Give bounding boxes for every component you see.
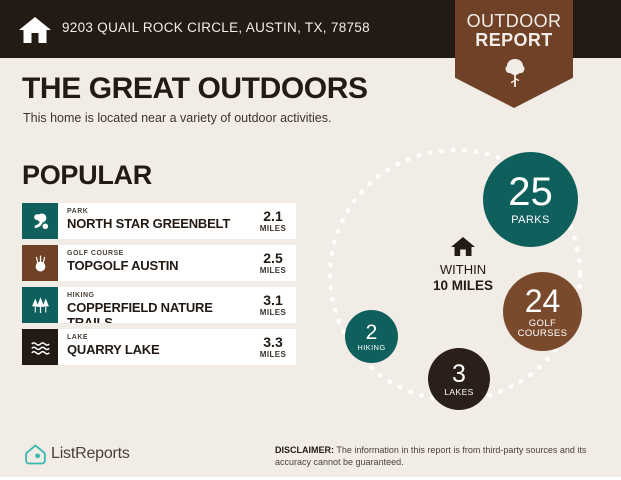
- home-icon: [450, 236, 476, 258]
- list-item[interactable]: LAKE QUARRY LAKE 3.3 MILES: [22, 329, 296, 365]
- list-item-category: GOLF COURSE: [67, 249, 250, 258]
- outdoor-report-badge: OUTDOOR REPORT: [455, 0, 573, 108]
- list-item-category: LAKE: [67, 333, 250, 342]
- list-item[interactable]: PARK NORTH STAR GREENBELT 2.1 MILES: [22, 203, 296, 239]
- disclaimer-label: DISCLAIMER:: [275, 445, 334, 455]
- golf-icon: [22, 245, 58, 281]
- distance-unit: MILES: [250, 224, 296, 234]
- bubble-label: PARKS: [511, 215, 549, 227]
- list-item-distance: 3.3 MILES: [250, 329, 296, 365]
- list-item-distance: 2.1 MILES: [250, 203, 296, 239]
- page-title: THE GREAT OUTDOORS: [22, 72, 368, 106]
- bubble-label: GOLF COURSES: [518, 319, 568, 339]
- outdoor-report-page: 9203 QUAIL ROCK CIRCLE, AUSTIN, TX, 7875…: [0, 0, 621, 480]
- list-item-category: HIKING: [67, 291, 250, 300]
- listreports-wordmark: ListReports: [51, 445, 130, 463]
- list-item-distance: 3.1 MILES: [250, 287, 296, 323]
- list-item-name: NORTH STAR GREENBELT: [67, 216, 250, 231]
- bubble-label: HIKING: [357, 344, 385, 352]
- list-item-category: PARK: [67, 207, 250, 216]
- badge-title: OUTDOOR REPORT: [455, 12, 573, 50]
- bubble-value: 25: [508, 172, 553, 212]
- center-line-2: 10 MILES: [408, 278, 518, 294]
- list-item-name: COPPERFIELD NATURE TRAILS: [67, 300, 250, 323]
- tree-icon: [504, 58, 526, 88]
- distance-value: 2.1: [250, 209, 296, 224]
- list-item-name: QUARRY LAKE: [67, 342, 250, 357]
- bubble-value: 3: [452, 362, 466, 387]
- list-item-text: HIKING COPPERFIELD NATURE TRAILS: [58, 287, 250, 323]
- stat-bubble-hiking[interactable]: 2 HIKING: [345, 310, 398, 363]
- distance-unit: MILES: [250, 266, 296, 276]
- badge-line-1: OUTDOOR: [455, 12, 573, 31]
- list-item-distance: 2.5 MILES: [250, 245, 296, 281]
- disclaimer: DISCLAIMER: The information in this repo…: [275, 444, 595, 468]
- stat-bubble-parks[interactable]: 25 PARKS: [483, 152, 578, 247]
- pine-trees-icon: [22, 287, 58, 323]
- list-item-name: TOPGOLF AUSTIN: [67, 258, 250, 273]
- bubble-label: LAKES: [444, 388, 473, 397]
- distance-value: 3.1: [250, 293, 296, 308]
- list-item[interactable]: GOLF COURSE TOPGOLF AUSTIN 2.5 MILES: [22, 245, 296, 281]
- page-subtitle: This home is located near a variety of o…: [23, 111, 331, 125]
- distance-unit: MILES: [250, 308, 296, 318]
- water-waves-icon: [22, 329, 58, 365]
- list-item-text: GOLF COURSE TOPGOLF AUSTIN: [58, 245, 250, 281]
- bubble-value: 24: [525, 285, 561, 317]
- list-item[interactable]: HIKING COPPERFIELD NATURE TRAILS 3.1 MIL…: [22, 287, 296, 323]
- listreports-house-icon: [24, 443, 47, 466]
- home-icon: [18, 14, 52, 46]
- distance-value: 3.3: [250, 335, 296, 350]
- distance-unit: MILES: [250, 350, 296, 360]
- badge-line-2: REPORT: [455, 31, 573, 50]
- stat-bubble-lakes[interactable]: 3 LAKES: [428, 348, 490, 410]
- center-line-1: WITHIN: [408, 262, 518, 278]
- distance-value: 2.5: [250, 251, 296, 266]
- popular-list: PARK NORTH STAR GREENBELT 2.1 MILES GOLF…: [22, 203, 296, 371]
- list-item-text: LAKE QUARRY LAKE: [58, 329, 250, 365]
- bubble-value: 2: [366, 322, 378, 343]
- property-address: 9203 QUAIL ROCK CIRCLE, AUSTIN, TX, 7875…: [62, 20, 370, 35]
- park-tree-icon: [22, 203, 58, 239]
- diagram-center: WITHIN 10 MILES: [408, 236, 518, 294]
- list-item-text: PARK NORTH STAR GREENBELT: [58, 203, 250, 239]
- within-10-miles-diagram: 25 PARKS 24 GOLF COURSES 3 LAKES 2 HIKIN…: [320, 140, 615, 415]
- popular-heading: POPULAR: [22, 160, 152, 191]
